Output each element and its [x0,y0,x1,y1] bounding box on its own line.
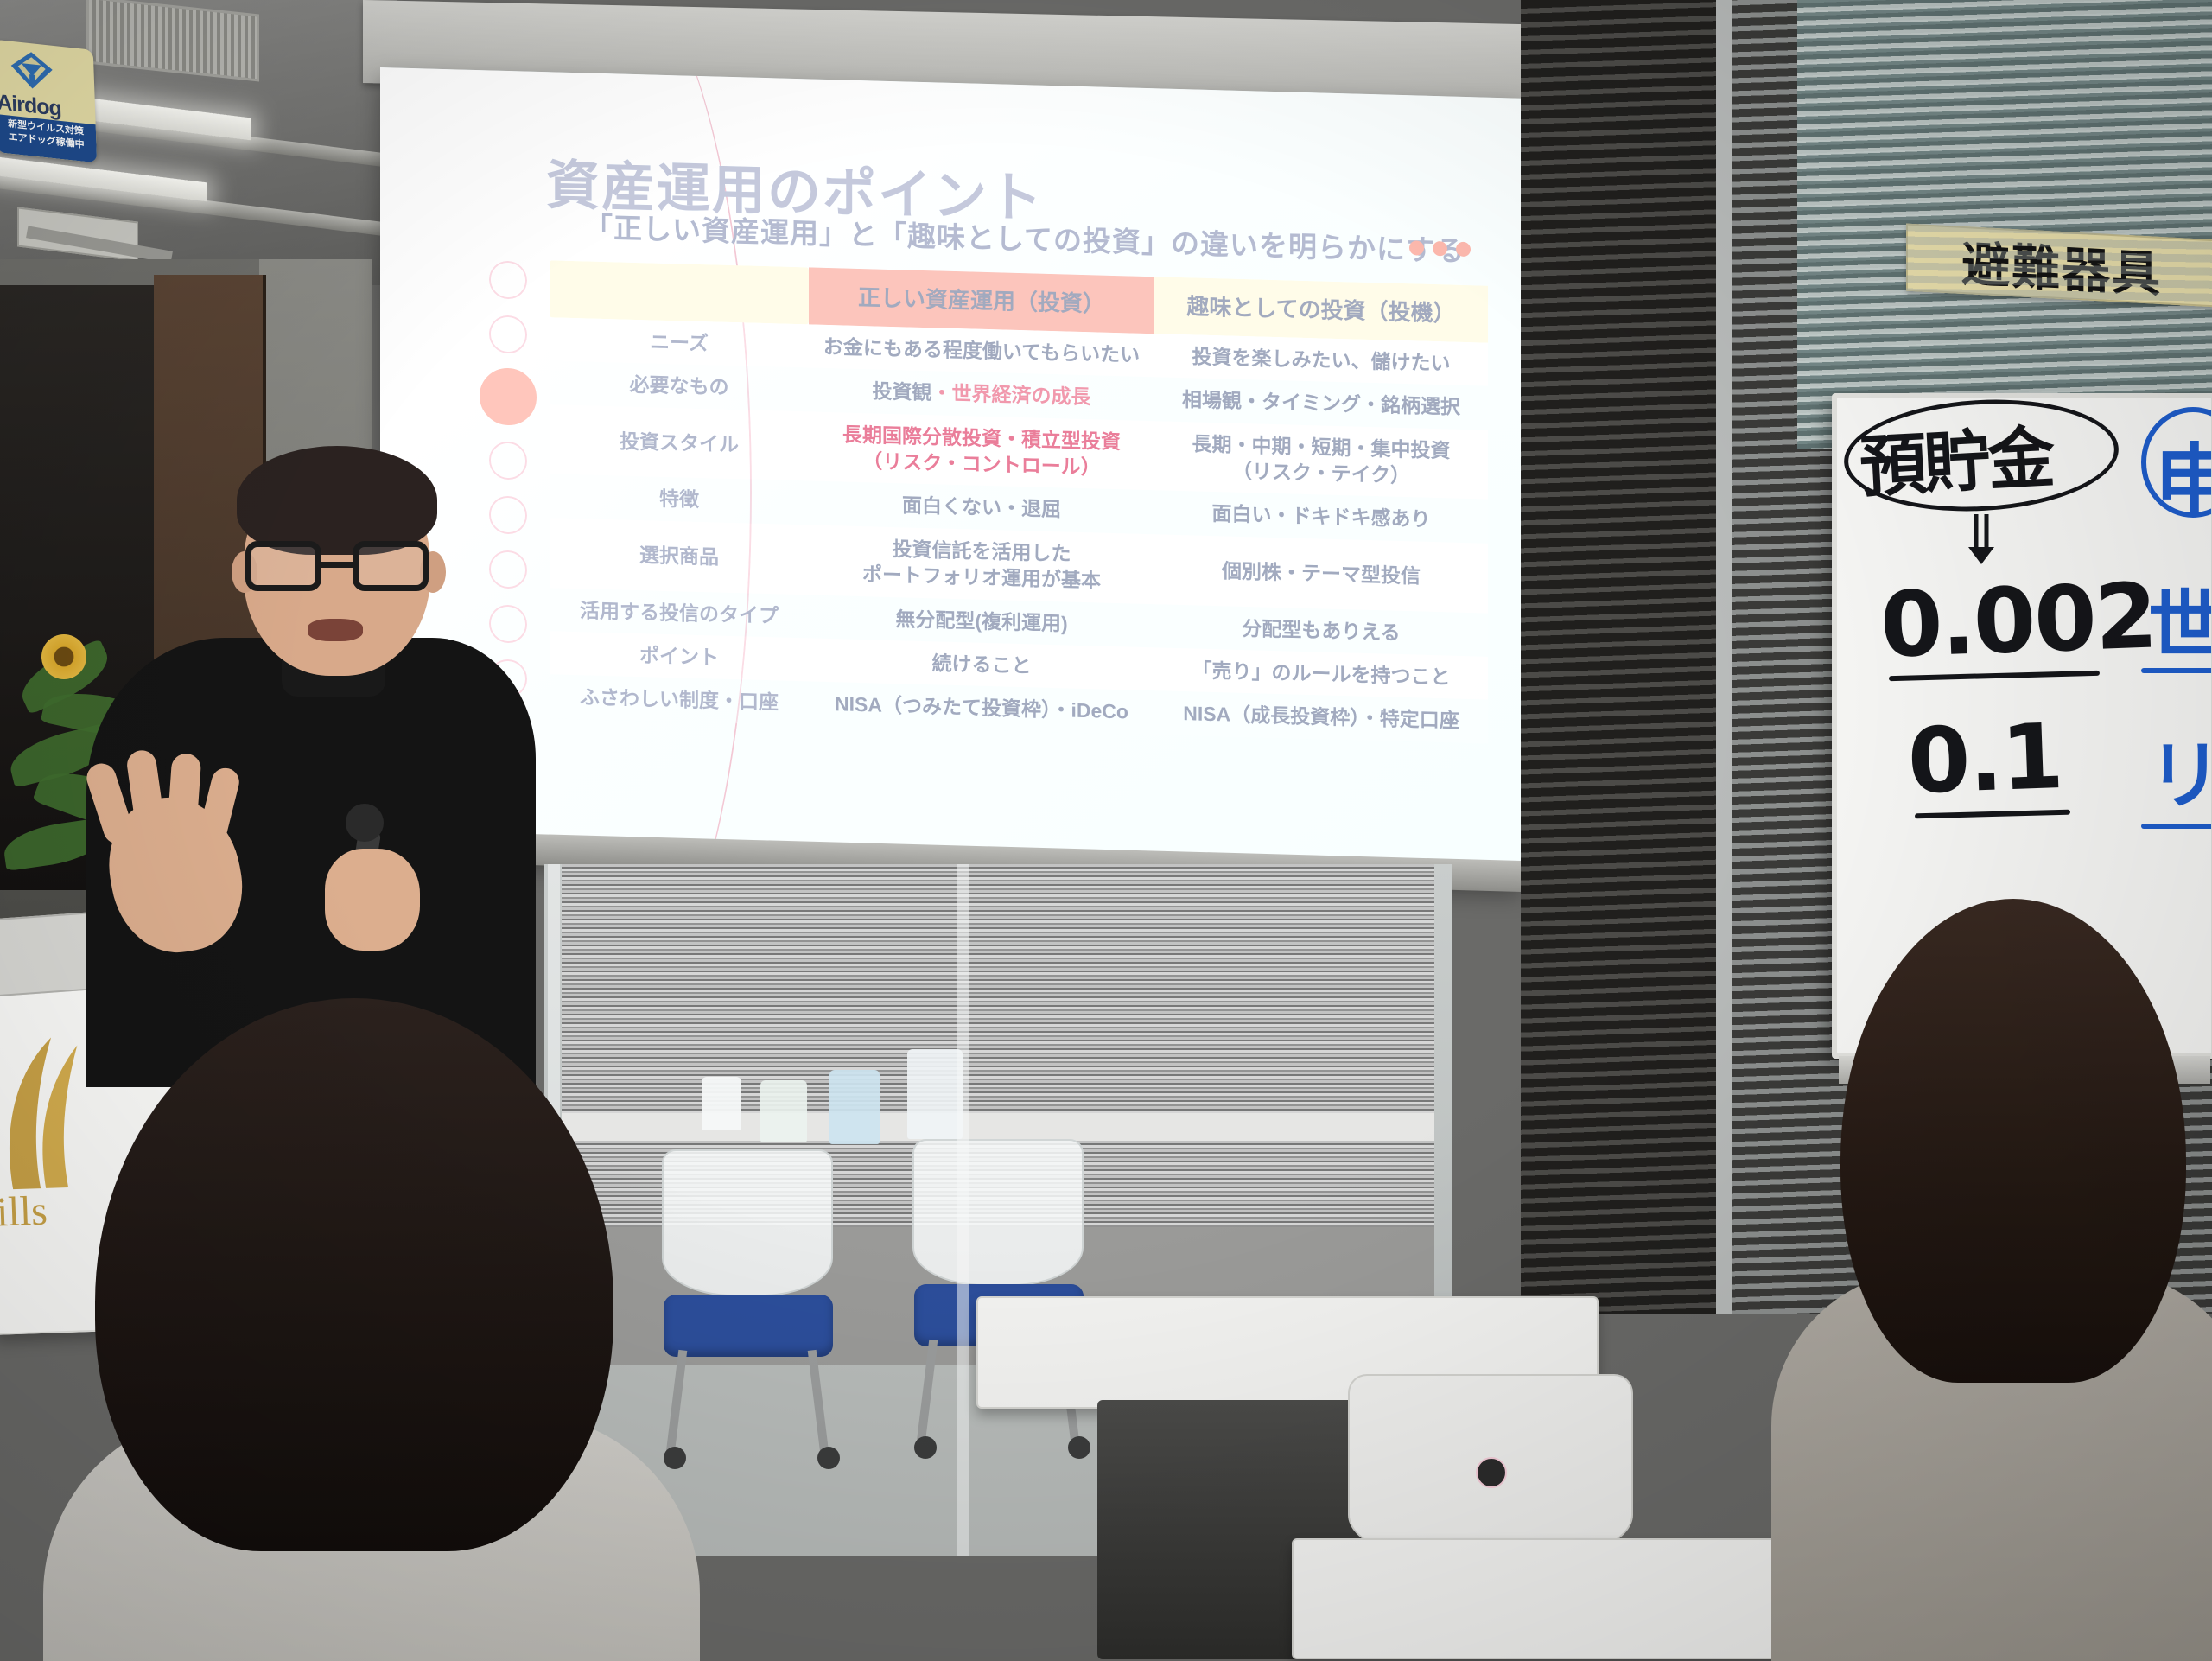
water-bottle [829,1070,880,1144]
attendee-front-right [1806,899,2212,1661]
finger [167,753,202,841]
chair-caster [914,1436,937,1459]
table-cell-right-way: NISA（つみたて投資枠）・iDeCo [809,682,1154,735]
cell-line: 面白くない・退屈 [814,490,1149,525]
table-row-label: 必要なもの [550,361,809,411]
chair-caster [817,1447,840,1469]
photo-frame [702,1077,741,1130]
whiteboard-blue-underline [2141,824,2212,829]
slide-accent-dots [1409,240,1471,257]
whiteboard-word-savings: 預貯金 [1857,404,2054,510]
glasses-bridge [320,562,356,568]
window-frame [1716,0,1732,1314]
chair-back [912,1139,1084,1286]
table-row-label: ポイント [550,631,809,681]
microphone-icon [346,804,384,842]
attendee-front-left [95,998,648,1661]
cell-line: 個別株・テーマ型投信 [1160,556,1483,590]
cell-line: 投資観・世界経済の成長 [814,377,1149,412]
cell-line: 無分配型(複利運用) [814,603,1149,639]
table-header-blank [550,260,809,324]
chair-caster [664,1447,686,1469]
table-row-label: 活用する投信のタイプ [550,588,809,638]
comparison-table: 正しい資産運用（投資） 趣味としての投資（投機） ニーズお金にもある程度働いても… [550,260,1488,743]
accent-dot-icon [1433,241,1447,256]
seminar-room-screenshot: Airdog 新型ウイルス対策 エアドッグ稼働中 資産運用のポイント 「正しい資… [0,0,2212,1661]
counter-top [562,1113,1434,1141]
table-header-hobby: 趣味としての投資（投機） [1154,277,1488,342]
cell-line: 投資を楽しみたい、儲けたい [1160,342,1483,377]
whiteboard-blue-word-2: リ [2148,715,2212,823]
glasses-lens [353,541,429,591]
pump-bottle [907,1049,963,1139]
slide-dot [489,315,527,353]
table-header-right-way: 正しい資産運用（投資） [809,267,1154,334]
glasses-lens [245,541,321,591]
table-row-label: 投資スタイル [550,404,809,481]
presenter-mouth [308,619,363,641]
evacuation-sign-label: 避難器具 [1961,225,2162,305]
table-row-label: 選択商品 [550,518,809,595]
sanitizer-bottle [760,1080,807,1142]
airdog-logo-icon [9,48,55,95]
cell-line: NISA（つみたて投資枠）・iDeCo [814,690,1149,726]
cell-line: 分配型もありえる [1160,613,1483,647]
presenter-hair [237,446,437,555]
whiteboard-blue-symbol: 申 [2155,417,2212,532]
glass-mullion [957,864,969,1556]
table-row-label: ニーズ [550,317,809,367]
meeting-chair [657,1149,838,1409]
table-cell-right-way: 長期国際分散投資・積立型投資（リスク・コントロール） [809,411,1154,491]
chair-handle-icon [1476,1457,1507,1488]
chair-seat [664,1295,833,1357]
whiteboard-blue-word-1: 世 [2148,564,2212,672]
table-row-label: 特徴 [550,474,809,525]
attendee-hair [1840,899,2186,1383]
sunflower-icon [41,634,86,679]
cell-line: 面白い・ドキドキ感あり [1160,500,1483,534]
cell-line: お金にもある程度働いてもらいたい [814,334,1149,369]
glasses-icon [244,541,430,593]
slide-dot-active [480,367,537,426]
table-cell-right-way: 投資信託を活用したポートフォリオ運用が基本 [809,525,1154,604]
airdog-sign: Airdog 新型ウイルス対策 エアドッグ稼働中 [0,40,97,163]
presenter [86,458,570,1063]
window-blinds-dark [1521,0,1719,1314]
attendee-hair [95,998,613,1551]
table-cell-hobby: 個別株・テーマ型投信 [1154,534,1488,613]
presenter-mic-hand [325,849,420,951]
window-pane-blinds [1797,0,2212,449]
accent-dot-icon [1456,242,1471,257]
whiteboard-blue-underline [2141,668,2212,673]
whiteboard-value-0002: 0.002 [1878,563,2158,678]
cell-line: 続けること [814,646,1149,682]
ceiling-vent-icon [86,0,259,82]
slide-dot [489,260,527,299]
cell-line: NISA（成長投資枠）・特定口座 [1160,700,1483,735]
cell-line: 「売り」のルールを持つこと [1160,656,1483,690]
table-cell-hobby: 長期・中期・短期・集中投資（リスク・テイク） [1154,421,1488,500]
whiteboard-value-01: 0.1 [1906,703,2063,814]
chair-back [662,1149,833,1296]
table-cell-hobby: NISA（成長投資枠）・特定口座 [1154,690,1488,743]
accent-dot-icon [1409,240,1424,255]
down-arrow-icon [1967,512,1996,564]
cell-line: 相場観・タイミング・銘柄選択 [1160,386,1483,421]
chair-caster [1068,1436,1090,1459]
table-row-label: ふさわしい制度・口座 [550,675,809,725]
